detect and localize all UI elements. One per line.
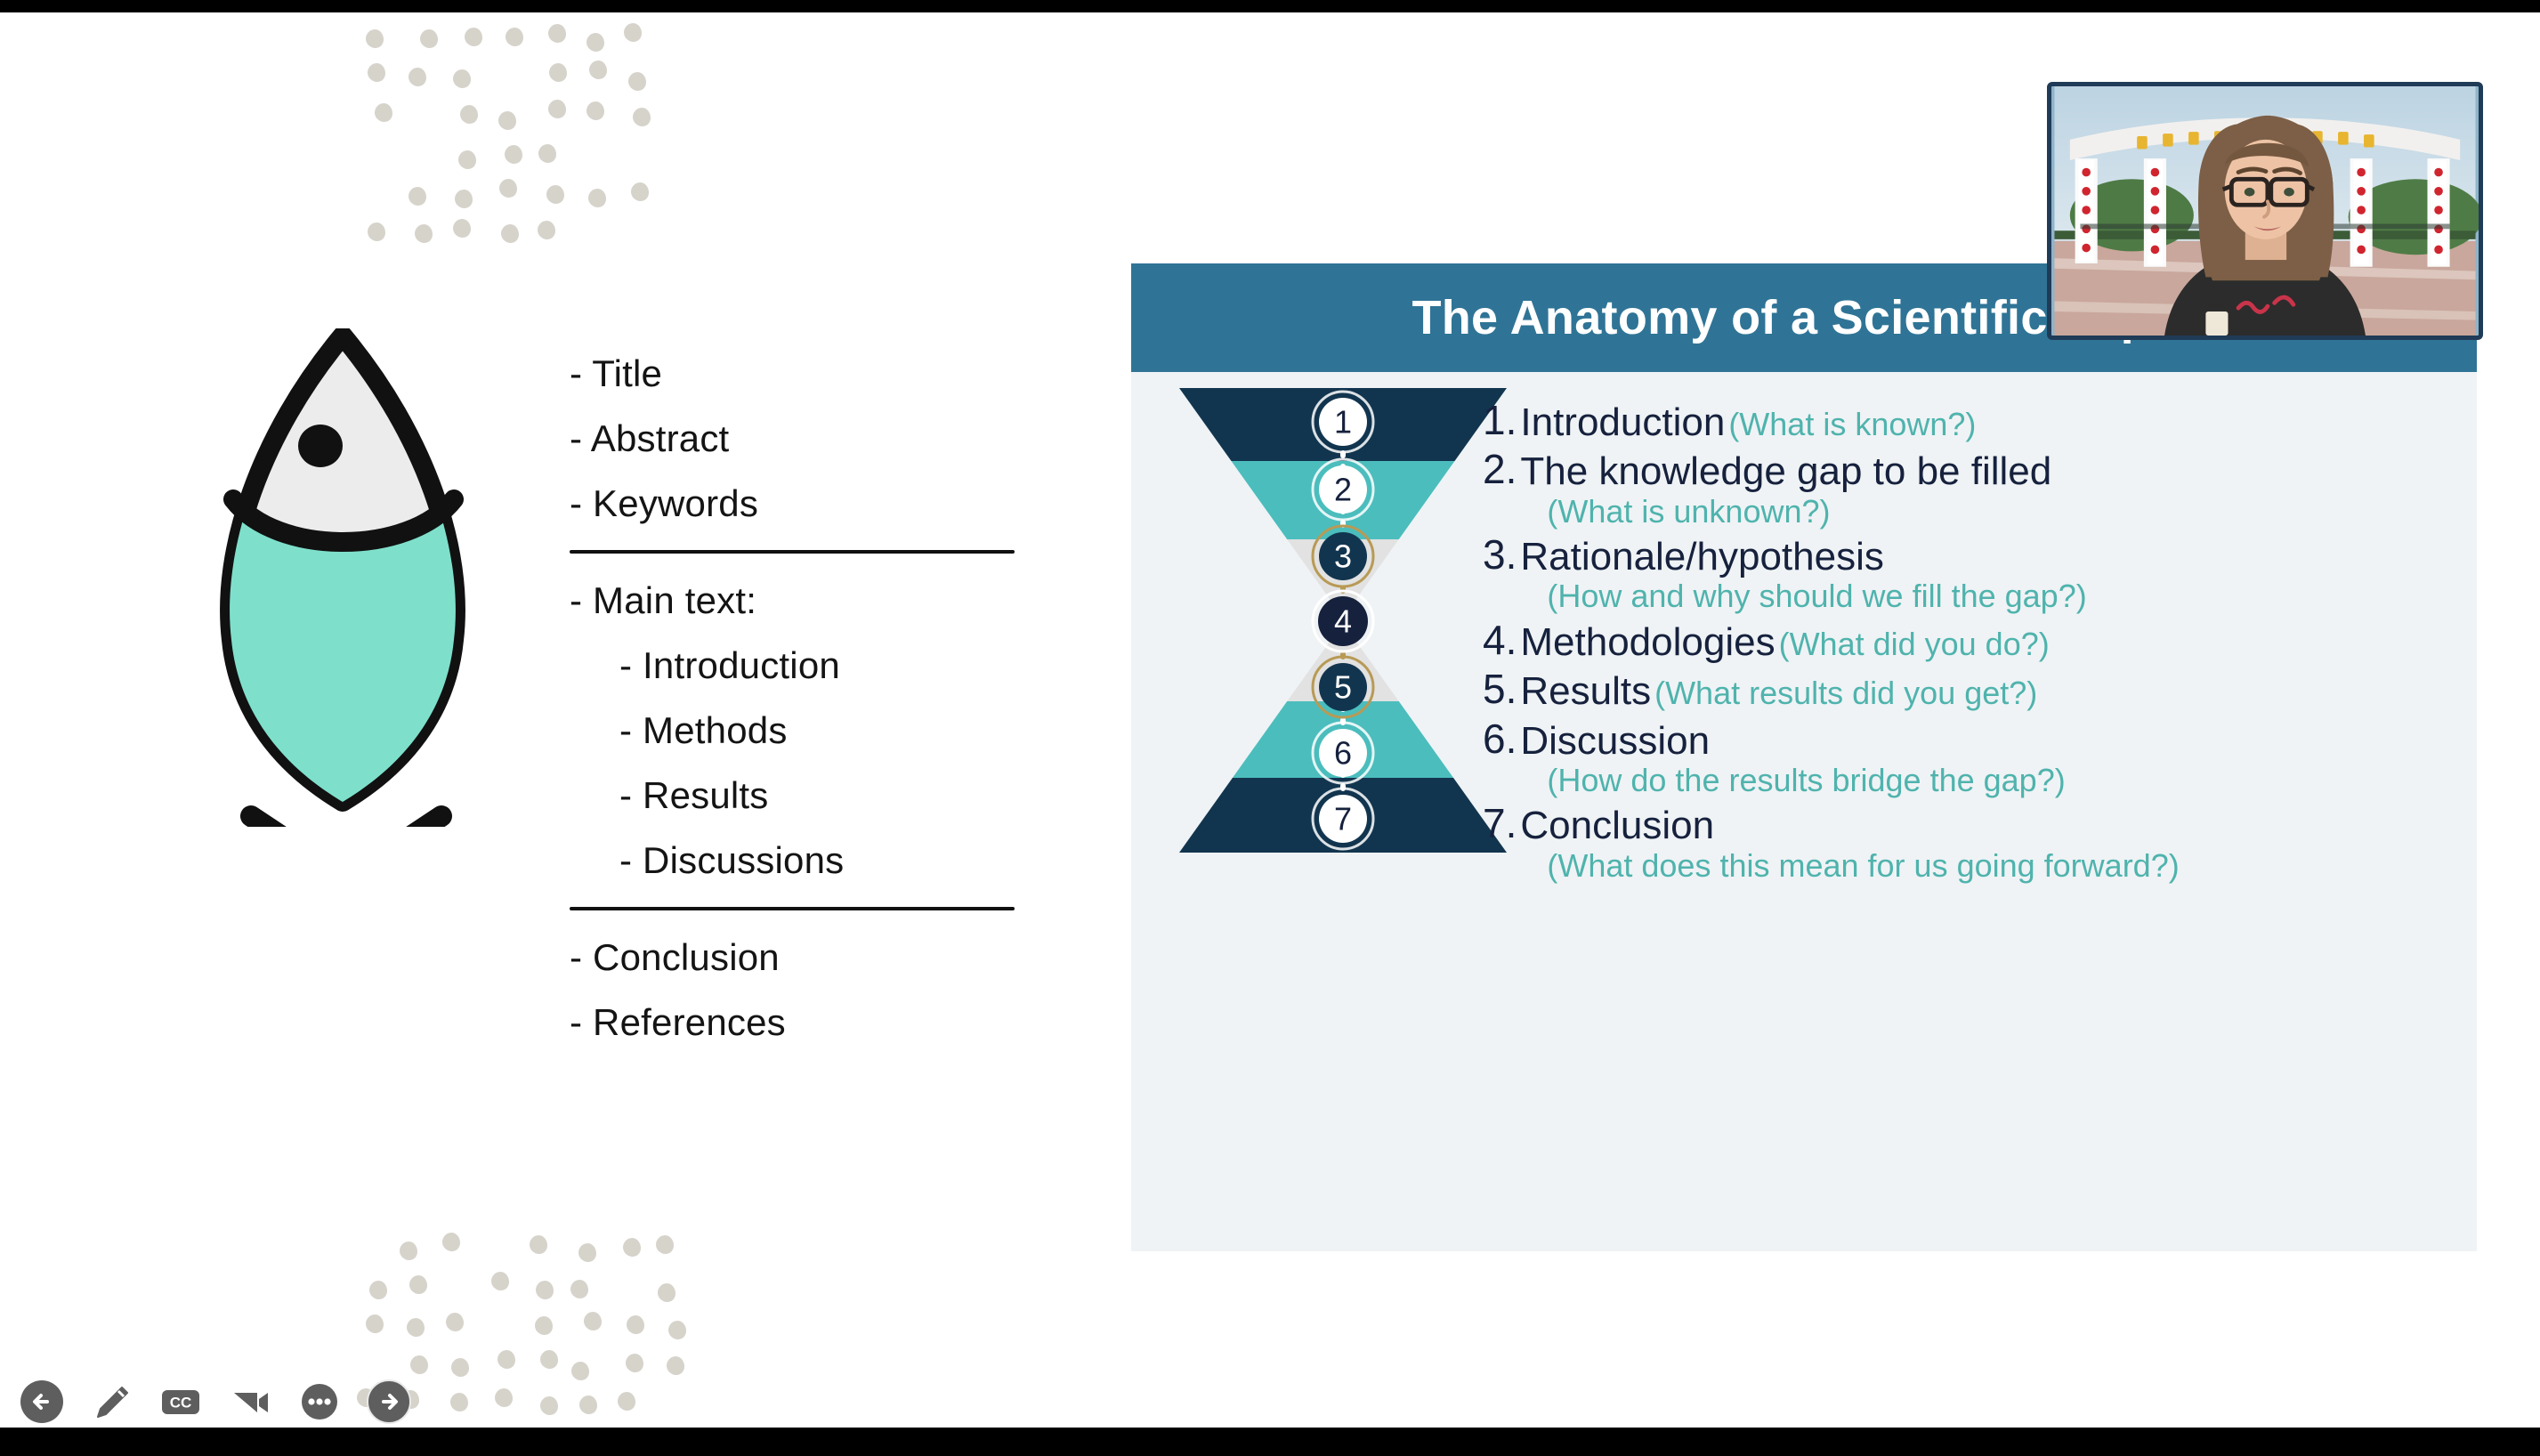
decorative-dot <box>491 1272 509 1290</box>
captions-button[interactable]: CC <box>155 1376 206 1428</box>
presenter-webcam[interactable] <box>2047 82 2483 340</box>
svg-text:7: 7 <box>1334 801 1352 837</box>
stage-number: 7. <box>1483 802 1520 846</box>
stage-number: 4. <box>1483 619 1520 663</box>
svg-text:3: 3 <box>1334 538 1352 575</box>
stage-text: The knowledge gap to be filled(What is u… <box>1520 448 2051 530</box>
decorative-dot <box>623 1238 641 1257</box>
bottom-toolbar <box>0 1428 2540 1456</box>
decorative-dot <box>618 1392 635 1411</box>
decorative-dot <box>366 1314 384 1333</box>
decorative-dot <box>540 1350 558 1369</box>
decorative-dot <box>409 1275 427 1294</box>
fish-icon <box>187 328 498 827</box>
outline-item: - Title <box>570 355 1032 392</box>
decorative-dot <box>627 1315 644 1334</box>
outline-item: - Introduction <box>570 647 1032 684</box>
arrow-left-icon <box>19 1379 65 1425</box>
decorative-dot <box>450 1393 468 1412</box>
decorative-dot-pattern-bottom <box>0 12 676 262</box>
decorative-dot <box>536 1281 554 1299</box>
ellipsis-icon <box>296 1379 343 1425</box>
svg-text:6: 6 <box>1334 735 1352 772</box>
decorative-dot <box>667 1356 684 1375</box>
svg-text:4: 4 <box>1334 603 1352 640</box>
decorative-dot <box>530 1235 547 1254</box>
closed-captions-icon: CC <box>158 1379 204 1425</box>
stage-label: Rationale/hypothesis <box>1520 535 1883 578</box>
stage-hint: (What is known?) <box>1728 406 1976 442</box>
stage-number: 2. <box>1483 448 1520 492</box>
outline-item: - Main text: <box>570 582 1032 619</box>
decorative-dot <box>495 1388 513 1407</box>
svg-text:5: 5 <box>1334 669 1352 706</box>
list-item: 6.Discussion(How do the results bridge t… <box>1483 717 2453 799</box>
decorative-dot <box>369 1281 387 1299</box>
arrow-right-icon <box>366 1379 412 1425</box>
stage-text: Introduction(What is known?) <box>1520 399 1976 444</box>
stage-hint: (What does this mean for us going forwar… <box>1520 848 2179 884</box>
panel-body: 1 2 3 4 <box>1131 372 2477 1251</box>
outline-divider <box>570 550 1015 554</box>
decorative-dot <box>579 1395 597 1414</box>
stage-label: Results <box>1520 669 1651 713</box>
pencil-icon <box>88 1379 134 1425</box>
outline-item: - Conclusion <box>570 939 1032 976</box>
decorative-dot <box>451 1358 469 1377</box>
outline-item: - Keywords <box>570 485 1032 522</box>
anatomy-slide-panel: The Anatomy of a Scientific Paper <box>1131 263 2477 1251</box>
decorative-dot <box>571 1362 589 1380</box>
stage-text: Rationale/hypothesis(How and why should … <box>1520 533 2086 615</box>
toolbar-icon-group: CC <box>16 1372 415 1431</box>
stage-label: Discussion <box>1520 719 1710 763</box>
decorative-dot <box>400 1242 417 1260</box>
hourglass-funnel-diagram: 1 2 3 4 <box>1174 384 1512 856</box>
outline-item: - Results <box>570 777 1032 814</box>
decorative-dot <box>535 1316 553 1335</box>
decorative-dot <box>407 1318 425 1337</box>
annotate-button[interactable] <box>85 1376 137 1428</box>
stage-hint: (How do the results bridge the gap?) <box>1520 763 2065 798</box>
decorative-dot <box>668 1321 686 1339</box>
stage-label: The knowledge gap to be filled <box>1520 449 2051 493</box>
stage-number: 3. <box>1483 533 1520 578</box>
stage-text: Conclusion(What does this mean for us go… <box>1520 802 2179 884</box>
decorative-dot <box>570 1280 588 1298</box>
stage-text: Results(What results did you get?) <box>1520 667 2037 713</box>
decorative-dot <box>442 1233 460 1251</box>
outline-item: - Methods <box>570 712 1032 749</box>
more-options-button[interactable] <box>294 1376 345 1428</box>
stage-label: Introduction <box>1520 400 1725 444</box>
stage-number: 6. <box>1483 717 1520 762</box>
stage-number: 1. <box>1483 399 1520 443</box>
list-item: 1.Introduction(What is known?) <box>1483 399 2453 444</box>
outline-item: - Discussions <box>570 842 1032 879</box>
stage-label: Conclusion <box>1520 804 1714 847</box>
decorative-dot <box>626 1354 643 1372</box>
list-item: 2.The knowledge gap to be filled(What is… <box>1483 448 2453 530</box>
svg-text:CC: CC <box>170 1395 192 1412</box>
paper-stage-list: 1.Introduction(What is known?)2.The know… <box>1483 399 2453 887</box>
next-slide-button[interactable] <box>363 1376 415 1428</box>
decorative-dot <box>584 1312 602 1331</box>
decorative-dot <box>656 1235 674 1254</box>
stage-number: 5. <box>1483 667 1520 712</box>
stage-hint: (What is unknown?) <box>1520 494 2051 530</box>
stage-hint: (How and why should we fill the gap?) <box>1520 578 2086 614</box>
list-item: 7.Conclusion(What does this mean for us … <box>1483 802 2453 884</box>
list-item: 4.Methodologies(What did you do?) <box>1483 619 2453 664</box>
svg-text:2: 2 <box>1334 472 1352 508</box>
decorative-dot <box>410 1355 428 1374</box>
video-off-icon <box>227 1379 273 1425</box>
decorative-dot <box>497 1350 515 1369</box>
previous-slide-button[interactable] <box>16 1376 68 1428</box>
list-item: 5.Results(What results did you get?) <box>1483 667 2453 713</box>
decorative-dot <box>658 1283 675 1302</box>
stage-text: Discussion(How do the results bridge the… <box>1520 717 2065 799</box>
stage-hint: (What results did you get?) <box>1654 675 2037 711</box>
decorative-dot <box>578 1243 596 1262</box>
slide-canvas: - Title- Abstract- Keywords- Main text:-… <box>0 12 2540 1428</box>
paper-outline-list: - Title- Abstract- Keywords- Main text:-… <box>570 355 1032 1069</box>
list-item: 3.Rationale/hypothesis(How and why shoul… <box>1483 533 2453 615</box>
decorative-dot <box>540 1396 558 1415</box>
presentation-viewer: - Title- Abstract- Keywords- Main text:-… <box>0 0 2540 1456</box>
stage-text: Methodologies(What did you do?) <box>1520 619 2049 664</box>
decorative-dot <box>446 1313 464 1331</box>
camera-off-button[interactable] <box>224 1376 276 1428</box>
outline-item: - Abstract <box>570 420 1032 457</box>
stage-label: Methodologies <box>1520 620 1775 664</box>
outline-item: - References <box>570 1004 1032 1041</box>
svg-text:1: 1 <box>1334 404 1352 441</box>
stage-hint: (What did you do?) <box>1779 626 2050 662</box>
outline-divider <box>570 907 1015 910</box>
